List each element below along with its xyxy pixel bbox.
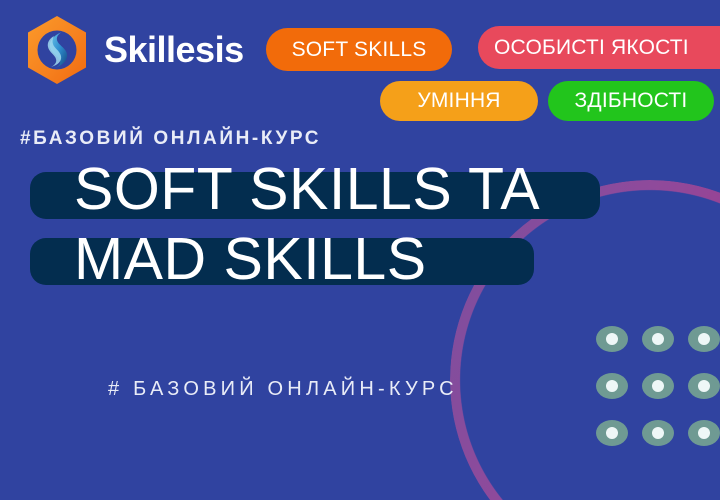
brand-name: Skillesis	[104, 32, 244, 68]
hexagon-s-logo-icon	[22, 14, 92, 86]
dot-core	[606, 333, 618, 345]
dot-core	[606, 380, 618, 392]
dot	[642, 420, 674, 446]
headline-line-1: SOFT SKILLS TA	[0, 160, 720, 230]
dot-core	[698, 427, 710, 439]
dot	[596, 373, 628, 399]
dot	[688, 373, 720, 399]
headline-text-line-2: MAD SKILLS	[74, 224, 427, 294]
headline-line-2: MAD SKILLS	[0, 230, 720, 300]
pill-soft-skills[interactable]: SOFT SKILLS	[266, 28, 452, 71]
dot	[642, 326, 674, 352]
dot-core	[698, 333, 710, 345]
dot-core	[652, 380, 664, 392]
dot-core	[652, 427, 664, 439]
decorative-dot-grid	[596, 326, 720, 467]
dot	[642, 373, 674, 399]
dot-core	[652, 333, 664, 345]
dot	[596, 326, 628, 352]
footer-course-tag: # БАЗОВИЙ ОНЛАЙН-КУРС	[108, 378, 458, 401]
dot	[596, 420, 628, 446]
dot	[688, 326, 720, 352]
dot	[688, 420, 720, 446]
dot-core	[698, 380, 710, 392]
pill-capabilities[interactable]: ЗДІБНОСТІ	[548, 81, 714, 121]
headline-text-line-1: SOFT SKILLS TA	[74, 154, 540, 224]
pill-abilities-uminnya[interactable]: УМІННЯ	[380, 81, 538, 121]
promo-poster: Skillesis SOFT SKILLS ОСОБИСТІ ЯКОСТІ УМ…	[0, 0, 720, 500]
dot-core	[606, 427, 618, 439]
kicker-tagline: #БАЗОВИЙ ОНЛАЙН-КУРС	[20, 128, 321, 150]
pill-personal-qualities[interactable]: ОСОБИСТІ ЯКОСТІ	[478, 26, 720, 69]
brand-logo[interactable]: Skillesis	[22, 14, 244, 86]
headline-block: SOFT SKILLS TA MAD SKILLS	[0, 160, 720, 300]
